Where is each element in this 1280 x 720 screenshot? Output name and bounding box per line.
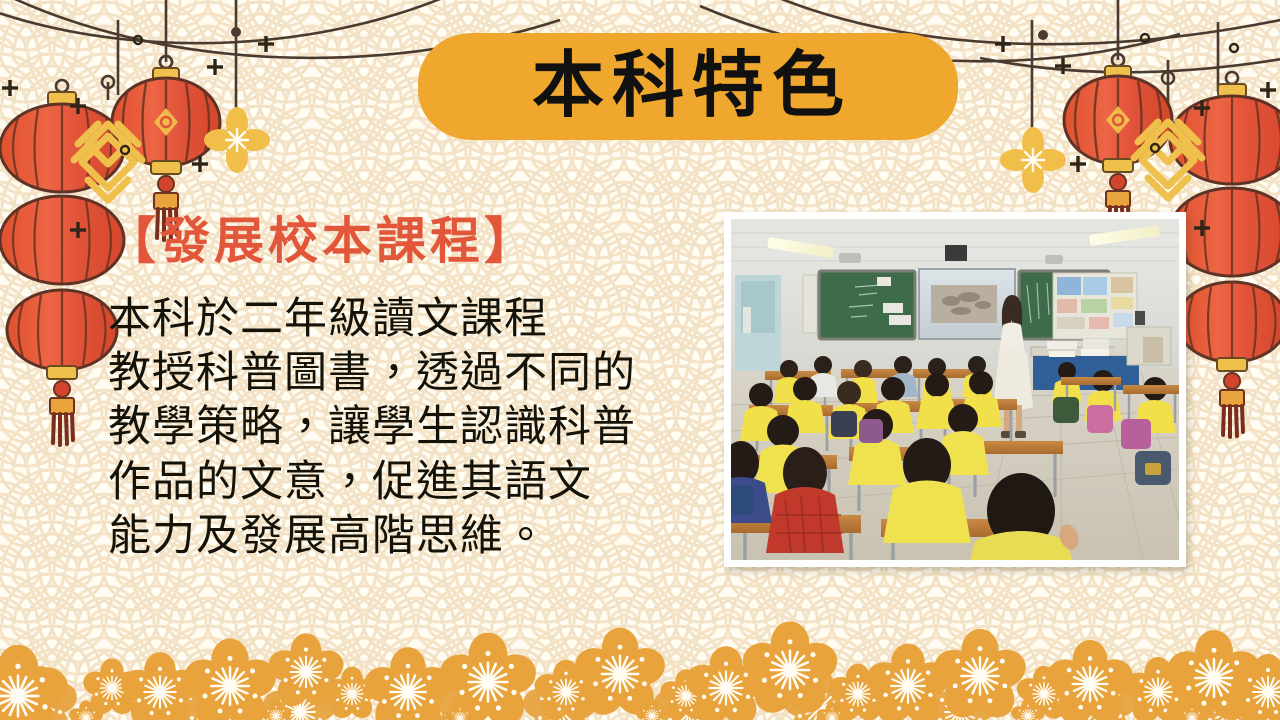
- body-line: 教學策略，讓學生認識科普: [108, 400, 728, 454]
- slide-content: 本科特色 【發展校本課程】 本科於二年級讀文課程 教授科普圖書，透過不同的 教學…: [0, 0, 1280, 720]
- body-line: 能力及發展高階思維。: [108, 509, 728, 563]
- body-line: 教授科普圖書，透過不同的: [108, 346, 728, 400]
- classroom-photo-frame: [724, 212, 1186, 567]
- title-banner: 本科特色: [418, 33, 958, 140]
- page-title: 本科特色: [524, 49, 852, 121]
- classroom-photo: [731, 219, 1179, 560]
- body-paragraph: 本科於二年級讀文課程 教授科普圖書，透過不同的 教學策略，讓學生認識科普 作品的…: [108, 292, 728, 563]
- body-line: 作品的文意，促進其語文: [108, 455, 728, 509]
- body-line: 本科於二年級讀文課程: [108, 292, 728, 346]
- section-heading: 【發展校本課程】: [106, 213, 538, 268]
- slide-canvas: 本科特色 【發展校本課程】 本科於二年級讀文課程 教授科普圖書，透過不同的 教學…: [0, 0, 1280, 720]
